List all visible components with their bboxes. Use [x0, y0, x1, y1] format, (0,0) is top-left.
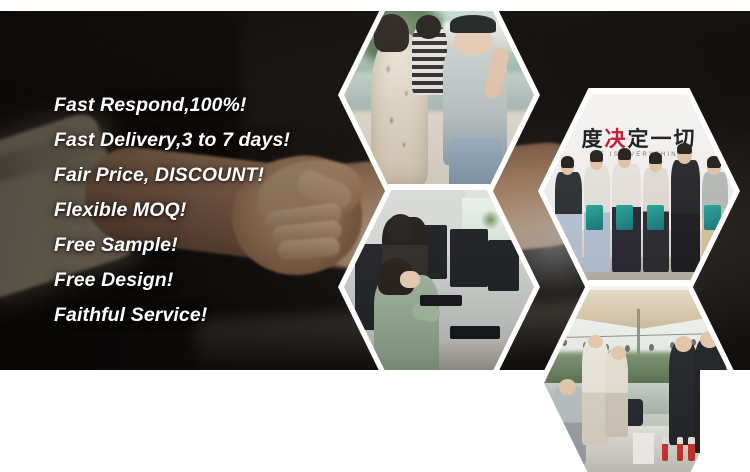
party-guest-head	[559, 379, 576, 395]
team-member-hair	[561, 156, 574, 168]
party-guest-head	[611, 346, 626, 360]
keyboard	[420, 295, 462, 307]
light-bulb	[625, 345, 630, 352]
benefits-list: Fast Respond,100%! Fast Delivery,3 to 7 …	[54, 88, 354, 333]
worker-face	[400, 271, 419, 288]
team-member	[555, 172, 582, 273]
benefit-item: Fast Delivery,3 to 7 days!	[54, 123, 354, 158]
benefit-item: Faithful Service!	[54, 298, 354, 333]
wall-slogan-english: DE IS EVERYTHING	[557, 152, 720, 158]
worker-hair	[387, 214, 414, 242]
light-bulb	[649, 344, 654, 351]
gift-box	[647, 205, 664, 230]
bottom-white-band	[0, 370, 540, 472]
benefit-item: Free Design!	[54, 263, 354, 298]
party-guest	[605, 352, 628, 437]
benefit-item: Fair Price, DISCOUNT!	[54, 158, 354, 193]
gift-box	[616, 205, 633, 230]
drink-bottle	[688, 437, 694, 460]
bottom-right-white-band	[700, 370, 750, 472]
slogan-char-1: 度	[581, 127, 604, 151]
team-member-hair	[590, 150, 603, 162]
team-member-hair	[618, 148, 631, 160]
team-member	[671, 160, 700, 273]
promo-banner: Fast Respond,100%! Fast Delivery,3 to 7 …	[0, 0, 750, 472]
top-white-band	[0, 0, 750, 11]
team-member-hair	[677, 143, 692, 155]
menu-card	[633, 433, 654, 464]
office-worker	[374, 275, 439, 384]
wall-slogan-chinese: 度决定一切	[557, 123, 720, 153]
team-member-hair	[649, 152, 662, 164]
drink-bottle	[677, 437, 683, 460]
computer-monitor	[450, 229, 488, 287]
person-cap	[450, 15, 496, 32]
party-guest-head	[675, 336, 692, 352]
benefit-item: Free Sample!	[54, 228, 354, 263]
gift-box	[586, 205, 603, 230]
person-hair	[416, 15, 441, 38]
keyboard	[450, 326, 499, 340]
party-guest	[552, 387, 586, 465]
computer-monitor	[488, 240, 518, 290]
benefit-item: Flexible MOQ!	[54, 193, 354, 228]
party-guest-head	[588, 335, 603, 349]
drink-bottle	[662, 437, 668, 460]
benefit-item: Fast Respond,100%!	[54, 88, 354, 123]
